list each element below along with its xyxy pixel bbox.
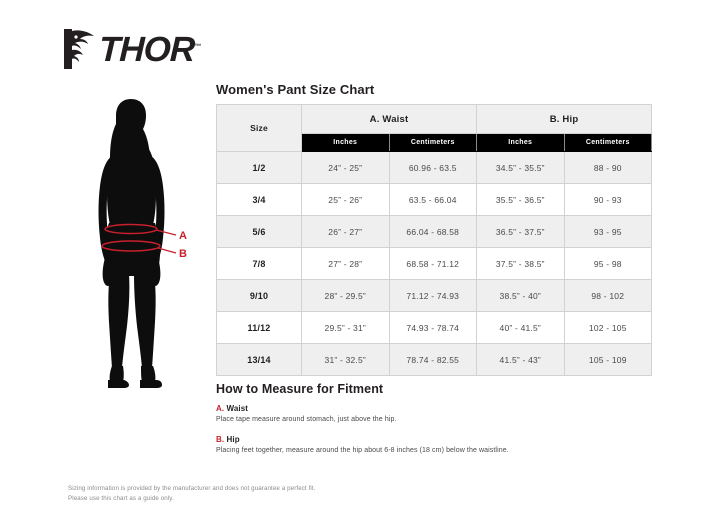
brand-wordmark: THOR™ <box>98 32 200 67</box>
cell-size: 9/10 <box>217 280 302 312</box>
column-group-waist: A. Waist <box>302 105 477 134</box>
cell-hip-centimeters: 90 - 93 <box>564 184 652 216</box>
fitment-note-waist: A. Waist Place tape measure around stoma… <box>216 404 646 424</box>
cell-hip-centimeters: 98 - 102 <box>564 280 652 312</box>
cell-hip-inches: 41.5” - 43” <box>477 344 565 376</box>
cell-waist-centimeters: 60.96 - 63.5 <box>389 152 477 184</box>
cell-size: 11/12 <box>217 312 302 344</box>
cell-size: 13/14 <box>217 344 302 376</box>
silhouette-svg: A B <box>72 98 212 390</box>
fitment-note-hip-heading: B. Hip <box>216 435 646 444</box>
cell-hip-inches: 35.5” - 36.5” <box>477 184 565 216</box>
cell-waist-centimeters: 66.04 - 68.58 <box>389 216 477 248</box>
table-body: 1/2 24” - 25” 60.96 - 63.5 34.5” - 35.5”… <box>217 152 652 376</box>
column-header-waist-centimeters: Centimeters <box>389 134 477 152</box>
cell-waist-inches: 24” - 25” <box>302 152 390 184</box>
cell-waist-inches: 25” - 26” <box>302 184 390 216</box>
cell-waist-inches: 31” - 32.5” <box>302 344 390 376</box>
table-row: 9/10 28” - 29.5” 71.12 - 74.93 38.5” - 4… <box>217 280 652 312</box>
cell-waist-inches: 26” - 27” <box>302 216 390 248</box>
cell-waist-centimeters: 78.74 - 82.55 <box>389 344 477 376</box>
brand-logo: THOR™ <box>62 26 200 72</box>
cell-hip-centimeters: 93 - 95 <box>564 216 652 248</box>
cell-waist-centimeters: 68.58 - 71.12 <box>389 248 477 280</box>
cell-hip-inches: 38.5” - 40” <box>477 280 565 312</box>
cell-waist-centimeters: 74.93 - 78.74 <box>389 312 477 344</box>
table-row: 5/6 26” - 27” 66.04 - 68.58 36.5” - 37.5… <box>217 216 652 248</box>
table-row: 13/14 31” - 32.5” 78.74 - 82.55 41.5” - … <box>217 344 652 376</box>
cell-hip-inches: 37.5” - 38.5” <box>477 248 565 280</box>
fitment-note-hip-text: Placing feet together, measure around th… <box>216 446 646 455</box>
thor-helmet-icon <box>62 27 98 71</box>
cell-size: 3/4 <box>217 184 302 216</box>
size-chart-table: Size A. Waist B. Hip Inches Centimeters … <box>216 104 652 376</box>
cell-size: 7/8 <box>217 248 302 280</box>
column-header-waist-inches: Inches <box>302 134 390 152</box>
disclaimer: Sizing information is provided by the ma… <box>68 484 316 503</box>
cell-waist-centimeters: 71.12 - 74.93 <box>389 280 477 312</box>
cell-hip-inches: 34.5” - 35.5” <box>477 152 565 184</box>
fitment-section-title: How to Measure for Fitment <box>216 382 383 396</box>
cell-waist-inches: 28” - 29.5” <box>302 280 390 312</box>
table-row: 7/8 27” - 28” 68.58 - 71.12 37.5” - 38.5… <box>217 248 652 280</box>
column-group-hip: B. Hip <box>477 105 652 134</box>
column-header-hip-centimeters: Centimeters <box>564 134 652 152</box>
disclaimer-line-2: Please use this chart as a guide only. <box>68 494 316 504</box>
column-header-hip-inches: Inches <box>477 134 565 152</box>
fitment-note-waist-heading: A. Waist <box>216 404 646 413</box>
fitment-note-waist-name: Waist <box>227 404 249 413</box>
fitment-notes: A. Waist Place tape measure around stoma… <box>216 404 646 467</box>
female-body-silhouette: A B <box>72 98 212 390</box>
column-header-size: Size <box>217 105 302 152</box>
fitment-note-waist-text: Place tape measure around stomach, just … <box>216 415 646 424</box>
label-b: B <box>179 248 187 260</box>
size-chart-page: THOR™ <box>0 0 720 528</box>
cell-hip-centimeters: 95 - 98 <box>564 248 652 280</box>
fitment-note-hip: B. Hip Placing feet together, measure ar… <box>216 435 646 455</box>
table-head: Size A. Waist B. Hip Inches Centimeters … <box>217 105 652 152</box>
cell-size: 5/6 <box>217 216 302 248</box>
cell-hip-inches: 40” - 41.5” <box>477 312 565 344</box>
cell-size: 1/2 <box>217 152 302 184</box>
fitment-note-hip-letter: B. <box>216 435 224 444</box>
cell-hip-centimeters: 88 - 90 <box>564 152 652 184</box>
label-a: A <box>179 230 187 242</box>
table-row: 11/12 29.5” - 31” 74.93 - 78.74 40” - 41… <box>217 312 652 344</box>
cell-hip-centimeters: 102 - 105 <box>564 312 652 344</box>
cell-hip-centimeters: 105 - 109 <box>564 344 652 376</box>
trademark-symbol: ™ <box>194 43 200 50</box>
page-title: Women's Pant Size Chart <box>216 82 374 97</box>
fitment-note-waist-letter: A. <box>216 404 224 413</box>
fitment-note-hip-name: Hip <box>227 435 240 444</box>
table-head-row-groups: Size A. Waist B. Hip <box>217 105 652 134</box>
disclaimer-line-1: Sizing information is provided by the ma… <box>68 484 316 494</box>
cell-waist-inches: 27” - 28” <box>302 248 390 280</box>
table-row: 3/4 25” - 26” 63.5 - 66.04 35.5” - 36.5”… <box>217 184 652 216</box>
cell-waist-inches: 29.5” - 31” <box>302 312 390 344</box>
cell-waist-centimeters: 63.5 - 66.04 <box>389 184 477 216</box>
table-row: 1/2 24” - 25” 60.96 - 63.5 34.5” - 35.5”… <box>217 152 652 184</box>
cell-hip-inches: 36.5” - 37.5” <box>477 216 565 248</box>
